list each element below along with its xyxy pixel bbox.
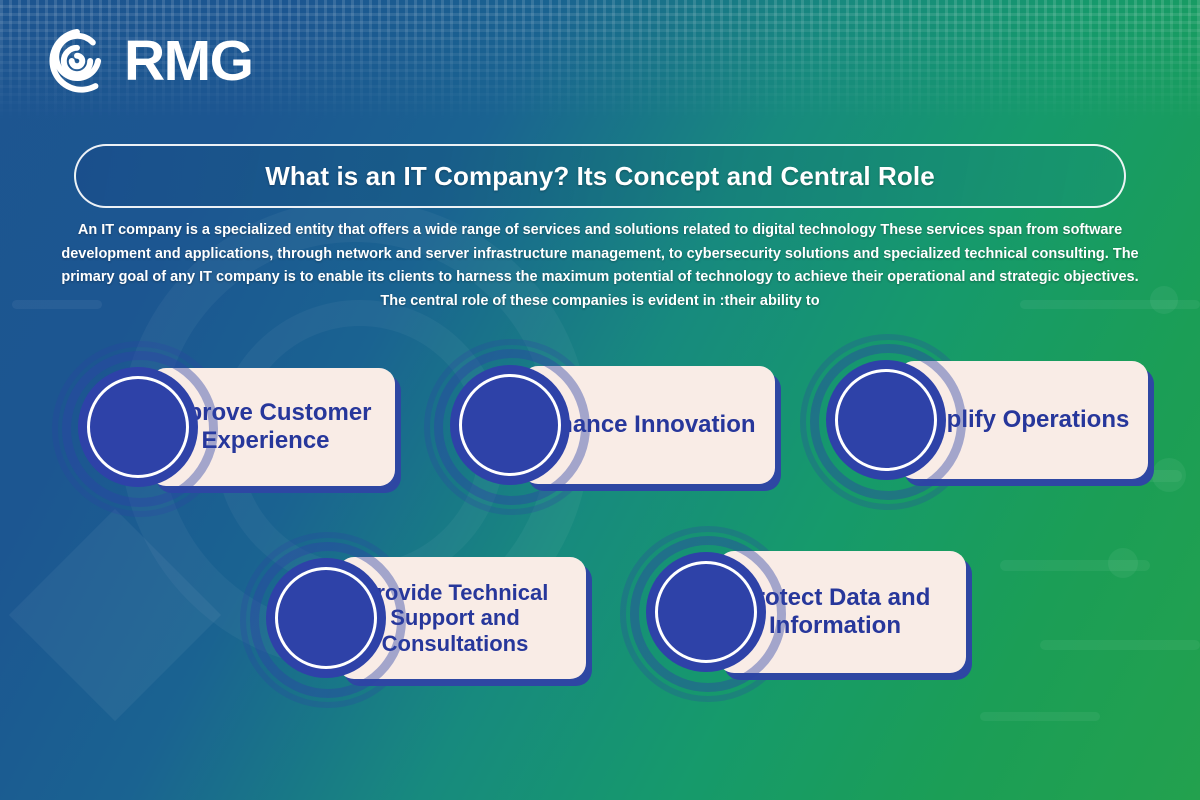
card-circle-icon — [266, 558, 386, 678]
circuit-trace-dot — [1152, 458, 1186, 492]
brand-name: RMG — [124, 33, 252, 90]
brand-logo[interactable]: RMG — [44, 28, 252, 94]
card-circle-icon — [826, 360, 946, 480]
page-title: What is an IT Company? Its Concept and C… — [265, 161, 935, 192]
watermark-diamond — [9, 509, 221, 721]
circuit-trace-line — [1040, 640, 1200, 650]
card-circle-icon — [78, 367, 198, 487]
card-circle-icon — [450, 365, 570, 485]
intro-paragraph: An IT company is a specialized entity th… — [60, 219, 1140, 313]
circuit-trace-line — [1000, 560, 1150, 571]
infographic-canvas: RMG What is an IT Company? Its Concept a… — [0, 0, 1200, 800]
card-circle-icon — [646, 552, 766, 672]
circuit-trace-line — [980, 712, 1100, 721]
rmg-spiral-logo-icon — [44, 28, 110, 94]
circuit-trace-dot — [1150, 286, 1178, 314]
header-title-bar: What is an IT Company? Its Concept and C… — [74, 144, 1126, 208]
circuit-trace-dot — [1108, 548, 1138, 578]
